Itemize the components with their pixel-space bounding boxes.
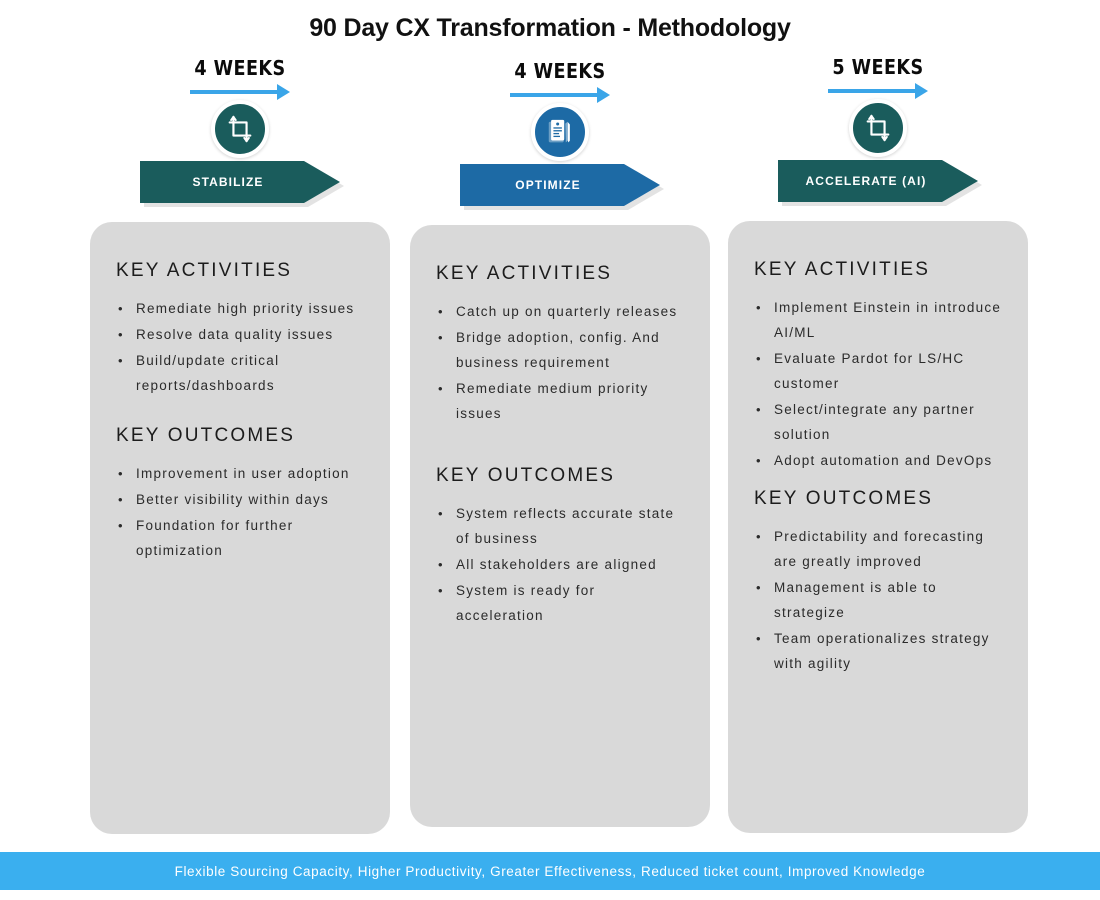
key-outcomes-list: Improvement in user adoption Better visi… [116, 461, 366, 563]
list-item: Foundation for further optimization [116, 513, 366, 563]
list-item: Resolve data quality issues [116, 322, 366, 347]
key-outcomes-heading: KEY OUTCOMES [754, 488, 1004, 510]
key-activities-list: Catch up on quarterly releases Bridge ad… [436, 299, 686, 426]
phase-badge [400, 103, 720, 161]
list-item: Evaluate Pardot for LS/HC customer [754, 346, 1004, 396]
banner-chevron: OPTIMIZE [460, 164, 660, 206]
key-activities-heading: KEY ACTIVITIES [436, 263, 686, 285]
phase-badge [718, 99, 1038, 157]
list-item: Team operationalizes strategy with agili… [754, 626, 1004, 676]
key-outcomes-list: Predictability and forecasting are great… [754, 524, 1004, 676]
phase-banner: ACCELERATE (AI) [718, 160, 1038, 206]
document-pen-icon [531, 103, 589, 161]
list-item: Bridge adoption, config. And business re… [436, 325, 686, 375]
progress-arrow-icon [718, 83, 1038, 99]
duration-header: 4 WEEKS [400, 59, 720, 107]
list-item: Management is able to strategize [754, 575, 1004, 625]
section-spacer [754, 474, 1004, 488]
key-activities-heading: KEY ACTIVITIES [754, 259, 1004, 281]
key-activities-list: Implement Einstein in introduce AI/ML Ev… [754, 295, 1004, 473]
phase-name: OPTIMIZE [515, 178, 604, 192]
banner-chevron: ACCELERATE (AI) [778, 160, 978, 202]
list-item: Catch up on quarterly releases [436, 299, 686, 324]
list-item: System is ready for acceleration [436, 578, 686, 628]
phase-card: KEY ACTIVITIES Catch up on quarterly rel… [410, 225, 710, 827]
list-item: Better visibility within days [116, 487, 366, 512]
phase-column-accelerate: 5 WEEKS ACCELERATE (AI) KEY ACTIV [718, 55, 1038, 103]
list-item: Implement Einstein in introduce AI/ML [754, 295, 1004, 345]
duration-header: 5 WEEKS [718, 55, 1038, 103]
list-item: Select/integrate any partner solution [754, 397, 1004, 447]
phase-name: ACCELERATE (AI) [806, 174, 951, 188]
phase-name: STABILIZE [192, 175, 287, 189]
section-spacer [436, 427, 686, 465]
crop-transform-icon [849, 99, 907, 157]
phase-column-optimize: 4 WEEKS [400, 59, 720, 107]
list-item: Build/update critical reports/dashboards [116, 348, 366, 398]
phase-banner: STABILIZE [80, 161, 400, 207]
key-outcomes-list: System reflects accurate state of busine… [436, 501, 686, 628]
key-activities-heading: KEY ACTIVITIES [116, 260, 366, 282]
section-spacer [116, 399, 366, 425]
key-outcomes-heading: KEY OUTCOMES [436, 465, 686, 487]
duration-header: 4 WEEKS [80, 56, 400, 104]
benefits-banner-text: Flexible Sourcing Capacity, Higher Produ… [175, 864, 926, 879]
phase-card: KEY ACTIVITIES Remediate high priority i… [90, 222, 390, 834]
duration-label: 5 WEEKS [737, 55, 1019, 79]
key-outcomes-heading: KEY OUTCOMES [116, 425, 366, 447]
list-item: All stakeholders are aligned [436, 552, 686, 577]
phase-banner: OPTIMIZE [400, 164, 720, 210]
list-item: Improvement in user adoption [116, 461, 366, 486]
phase-card: KEY ACTIVITIES Implement Einstein in int… [728, 221, 1028, 833]
key-activities-list: Remediate high priority issues Resolve d… [116, 296, 366, 398]
list-item: Remediate medium priority issues [436, 376, 686, 426]
progress-arrow-icon [400, 87, 720, 103]
progress-arrow-icon [80, 84, 400, 100]
phase-badge [80, 100, 400, 158]
banner-chevron: STABILIZE [140, 161, 340, 203]
duration-label: 4 WEEKS [99, 56, 381, 80]
list-item: Predictability and forecasting are great… [754, 524, 1004, 574]
list-item: System reflects accurate state of busine… [436, 501, 686, 551]
phase-columns: 4 WEEKS STABILIZE KEY ACTIVITIES [0, 0, 1100, 900]
duration-label: 4 WEEKS [419, 59, 701, 83]
crop-transform-icon [211, 100, 269, 158]
list-item: Remediate high priority issues [116, 296, 366, 321]
list-item: Adopt automation and DevOps [754, 448, 1004, 473]
phase-column-stabilize: 4 WEEKS STABILIZE KEY ACTIVITIES [80, 56, 400, 104]
benefits-banner: Flexible Sourcing Capacity, Higher Produ… [0, 852, 1100, 890]
